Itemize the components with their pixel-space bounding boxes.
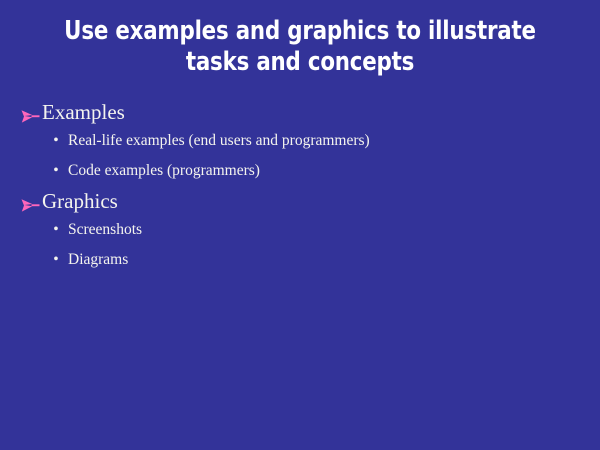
arrow-bullet-icon: [21, 104, 40, 119]
outline-item-level2-label: Screenshots: [68, 217, 142, 243]
outline-item-level2: • Real-life examples (end users and prog…: [0, 128, 600, 158]
slide-title-line-2: tasks and concepts: [21, 47, 579, 78]
outline-item-level1: Graphics: [0, 188, 600, 217]
outline-item-level2: • Code examples (programmers): [0, 158, 600, 188]
outline-item-level1-label: Examples: [42, 99, 125, 125]
outline-item-level1: Examples: [0, 99, 600, 128]
round-bullet-icon: •: [51, 128, 61, 154]
round-bullet-icon: •: [51, 217, 61, 243]
outline-item-level2: • Screenshots: [0, 217, 600, 247]
round-bullet-icon: •: [51, 158, 61, 184]
round-bullet-icon: •: [51, 247, 61, 273]
slide-body-outline: Examples • Real-life examples (end users…: [0, 99, 600, 277]
slide-title-line-1: Use examples and graphics to illustrate: [21, 16, 579, 47]
outline-item-level2-label: Code examples (programmers): [68, 158, 260, 184]
outline-item-level1-label: Graphics: [42, 188, 118, 214]
slide-title: Use examples and graphics to illustrate …: [21, 16, 579, 78]
outline-item-level2-label: Diagrams: [68, 247, 128, 273]
outline-item-level2: • Diagrams: [0, 247, 600, 277]
presentation-slide: Use examples and graphics to illustrate …: [0, 0, 600, 450]
arrow-bullet-icon: [21, 193, 40, 208]
outline-item-level2-label: Real-life examples (end users and progra…: [68, 128, 370, 154]
